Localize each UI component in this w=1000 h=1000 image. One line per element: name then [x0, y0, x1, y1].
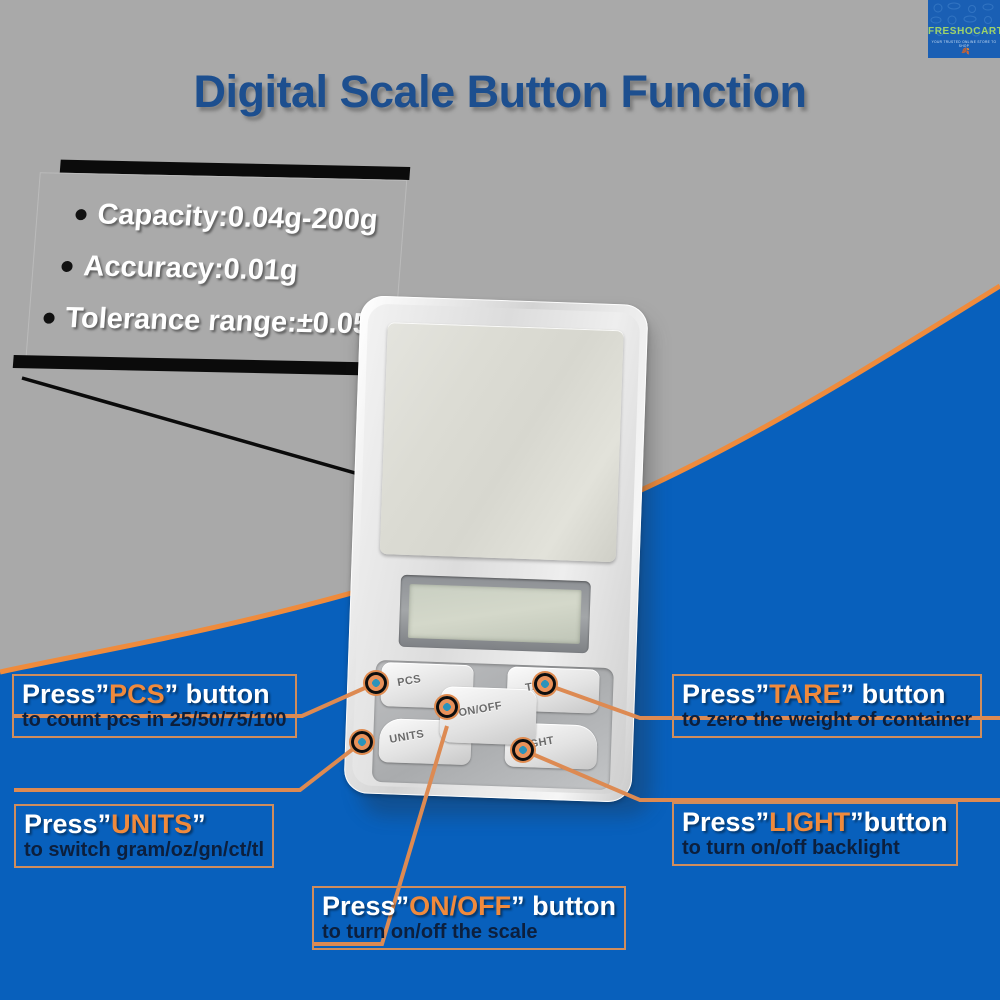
callout-tare-detail: to zero the weight of container — [682, 709, 972, 731]
callout-units: Press”UNITS” to switch gram/oz/gn/ct/tl — [14, 804, 274, 868]
callout-units-heading: Press”UNITS” — [24, 810, 264, 838]
callout-pcs-prefix: Press” — [22, 679, 109, 709]
device-inner-face: PCS TARE ON/OFF UNITS LIGHT — [352, 303, 641, 794]
lcd-display — [408, 584, 582, 644]
callout-units-prefix: Press” — [24, 809, 111, 839]
lcd-bezel — [399, 575, 591, 654]
callout-pcs-suffix: ” button — [165, 679, 270, 709]
bullet-icon — [43, 312, 55, 323]
marker-onoff[interactable] — [436, 696, 458, 718]
callout-onoff-heading: Press”ON/OFF” button — [322, 892, 616, 920]
callout-units-detail: to switch gram/oz/gn/ct/tl — [24, 839, 264, 861]
callout-tare-prefix: Press” — [682, 679, 769, 709]
marker-pcs[interactable] — [365, 672, 387, 694]
callout-light-detail: to turn on/off backlight — [682, 837, 948, 859]
device-body: PCS TARE ON/OFF UNITS LIGHT — [343, 295, 648, 803]
page-title: Digital Scale Button Function — [0, 66, 1000, 118]
digital-pocket-scale: PCS TARE ON/OFF UNITS LIGHT — [352, 300, 652, 812]
spec-list-item: Tolerance range:±0.05g — [28, 291, 397, 351]
callout-pcs: Press”PCS” button to count pcs in 25/50/… — [12, 674, 297, 738]
bullet-icon — [61, 260, 73, 271]
keypad: PCS TARE ON/OFF UNITS LIGHT — [372, 660, 614, 790]
callout-onoff-prefix: Press” — [322, 891, 409, 921]
callout-light-heading: Press”LIGHT”button — [682, 808, 948, 836]
callout-onoff-detail: to turn on/off the scale — [322, 921, 616, 943]
callout-pcs-key: PCS — [109, 679, 165, 709]
callout-light-key: LIGHT — [769, 807, 850, 837]
spec-list-item: Capacity:0.04g-200g — [36, 187, 405, 247]
callout-light-suffix: ”button — [850, 807, 947, 837]
spec-box-panel: Capacity:0.04g-200g Accuracy:0.01g Toler… — [25, 172, 407, 366]
callout-onoff-key: ON/OFF — [409, 891, 511, 921]
spec-text: Tolerance range:±0.05g — [64, 301, 388, 341]
leaf-icon: 🍂 — [961, 48, 968, 55]
weighing-platform — [380, 322, 624, 562]
callout-onoff: Press”ON/OFF” button to turn on/off the … — [312, 886, 626, 950]
callout-light-prefix: Press” — [682, 807, 769, 837]
marker-tare[interactable] — [534, 673, 556, 695]
bullet-icon — [75, 209, 87, 220]
callout-tare: Press”TARE” button to zero the weight of… — [672, 674, 982, 738]
marker-light[interactable] — [512, 739, 534, 761]
callout-tare-key: TARE — [769, 679, 841, 709]
infographic-canvas: FRESHOCART YOUR TRUSTED ONLINE STORE TO … — [0, 0, 1000, 1000]
spec-text: Capacity:0.04g-200g — [96, 198, 379, 237]
callout-onoff-suffix: ” button — [511, 891, 616, 921]
logo-tagline: YOUR TRUSTED ONLINE STORE TO SHOP — [928, 40, 1000, 48]
onoff-button[interactable] — [439, 686, 537, 745]
spec-text: Accuracy:0.01g — [82, 250, 299, 287]
marker-units[interactable] — [351, 731, 373, 753]
callout-units-key: UNITS — [111, 809, 192, 839]
callout-light: Press”LIGHT”button to turn on/off backli… — [672, 802, 958, 866]
logo-wordmark: FRESHOCART — [928, 26, 1000, 37]
brand-logo: FRESHOCART YOUR TRUSTED ONLINE STORE TO … — [928, 0, 1000, 58]
callout-pcs-heading: Press”PCS” button — [22, 680, 287, 708]
callout-pcs-detail: to count pcs in 25/50/75/100 — [22, 709, 287, 731]
callout-units-suffix: ” — [192, 809, 206, 839]
spec-list: Capacity:0.04g-200g Accuracy:0.01g Toler… — [28, 187, 405, 351]
callout-tare-heading: Press”TARE” button — [682, 680, 972, 708]
spec-list-item: Accuracy:0.01g — [32, 239, 401, 299]
callout-tare-suffix: ” button — [841, 679, 946, 709]
